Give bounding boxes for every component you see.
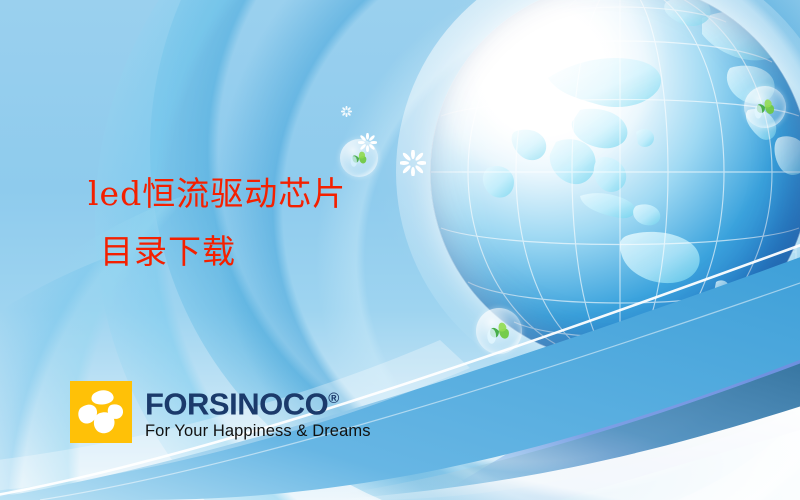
headline-line-1: led恒流驱动芯片 <box>88 174 346 213</box>
brand-tagline: For Your Happiness & Dreams <box>145 421 371 441</box>
brand-name: FORSINOCO® <box>145 382 371 420</box>
registered-trademark-icon: ® <box>328 390 339 407</box>
headline: led恒流驱动芯片 目录下载 <box>88 165 428 281</box>
logo-text-block: FORSINOCO® For Your Happiness & Dreams <box>145 381 371 441</box>
forsinoco-flower-mark <box>70 381 132 443</box>
brand-word: FORSINOCO <box>145 386 328 421</box>
headline-line-2: 目录下载 <box>88 223 428 281</box>
promotional-banner: led恒流驱动芯片 目录下载 FORSINOCO® For Your Happi… <box>0 0 800 500</box>
company-logo[interactable]: FORSINOCO® For Your Happiness & Dreams <box>70 381 371 443</box>
